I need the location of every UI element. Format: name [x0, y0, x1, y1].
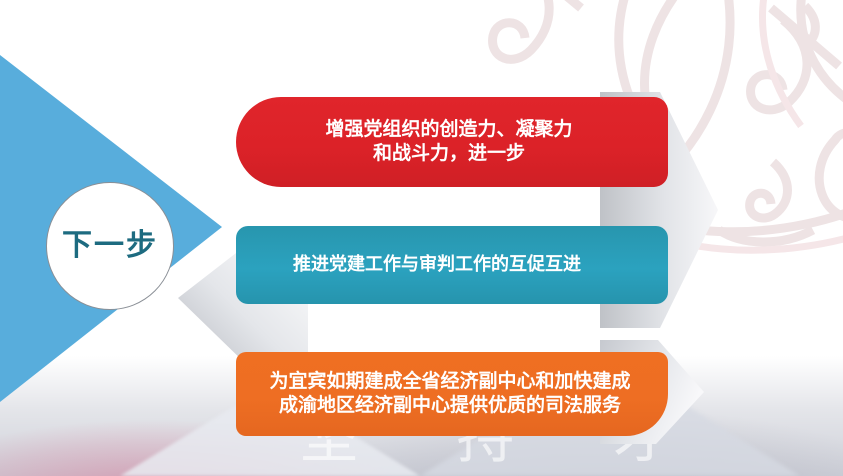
next-step-badge[interactable]: 下一步 — [46, 182, 174, 310]
bar-item-red[interactable]: 增强党组织的创造力、凝聚力 和战斗力，进一步 — [236, 97, 668, 187]
next-step-badge-label: 下一步 — [62, 231, 158, 261]
bar-item-teal-text: 推进党建工作与审判工作的互促互进 — [293, 253, 581, 276]
bar-item-orange[interactable]: 为宜宾如期建成全省经济副中心和加快建成 成渝地区经济副中心提供优质的司法服务 — [236, 352, 668, 436]
bar-item-red-text: 增强党组织的创造力、凝聚力 和战斗力，进一步 — [325, 118, 572, 167]
bar-item-teal[interactable]: 推进党建工作与审判工作的互促互进 — [236, 226, 668, 304]
bar-item-orange-text: 为宜宾如期建成全省经济副中心和加快建成 成渝地区经济副中心提供优质的司法服务 — [269, 370, 630, 419]
slide-canvas: 坚 持 才 — [0, 0, 843, 476]
